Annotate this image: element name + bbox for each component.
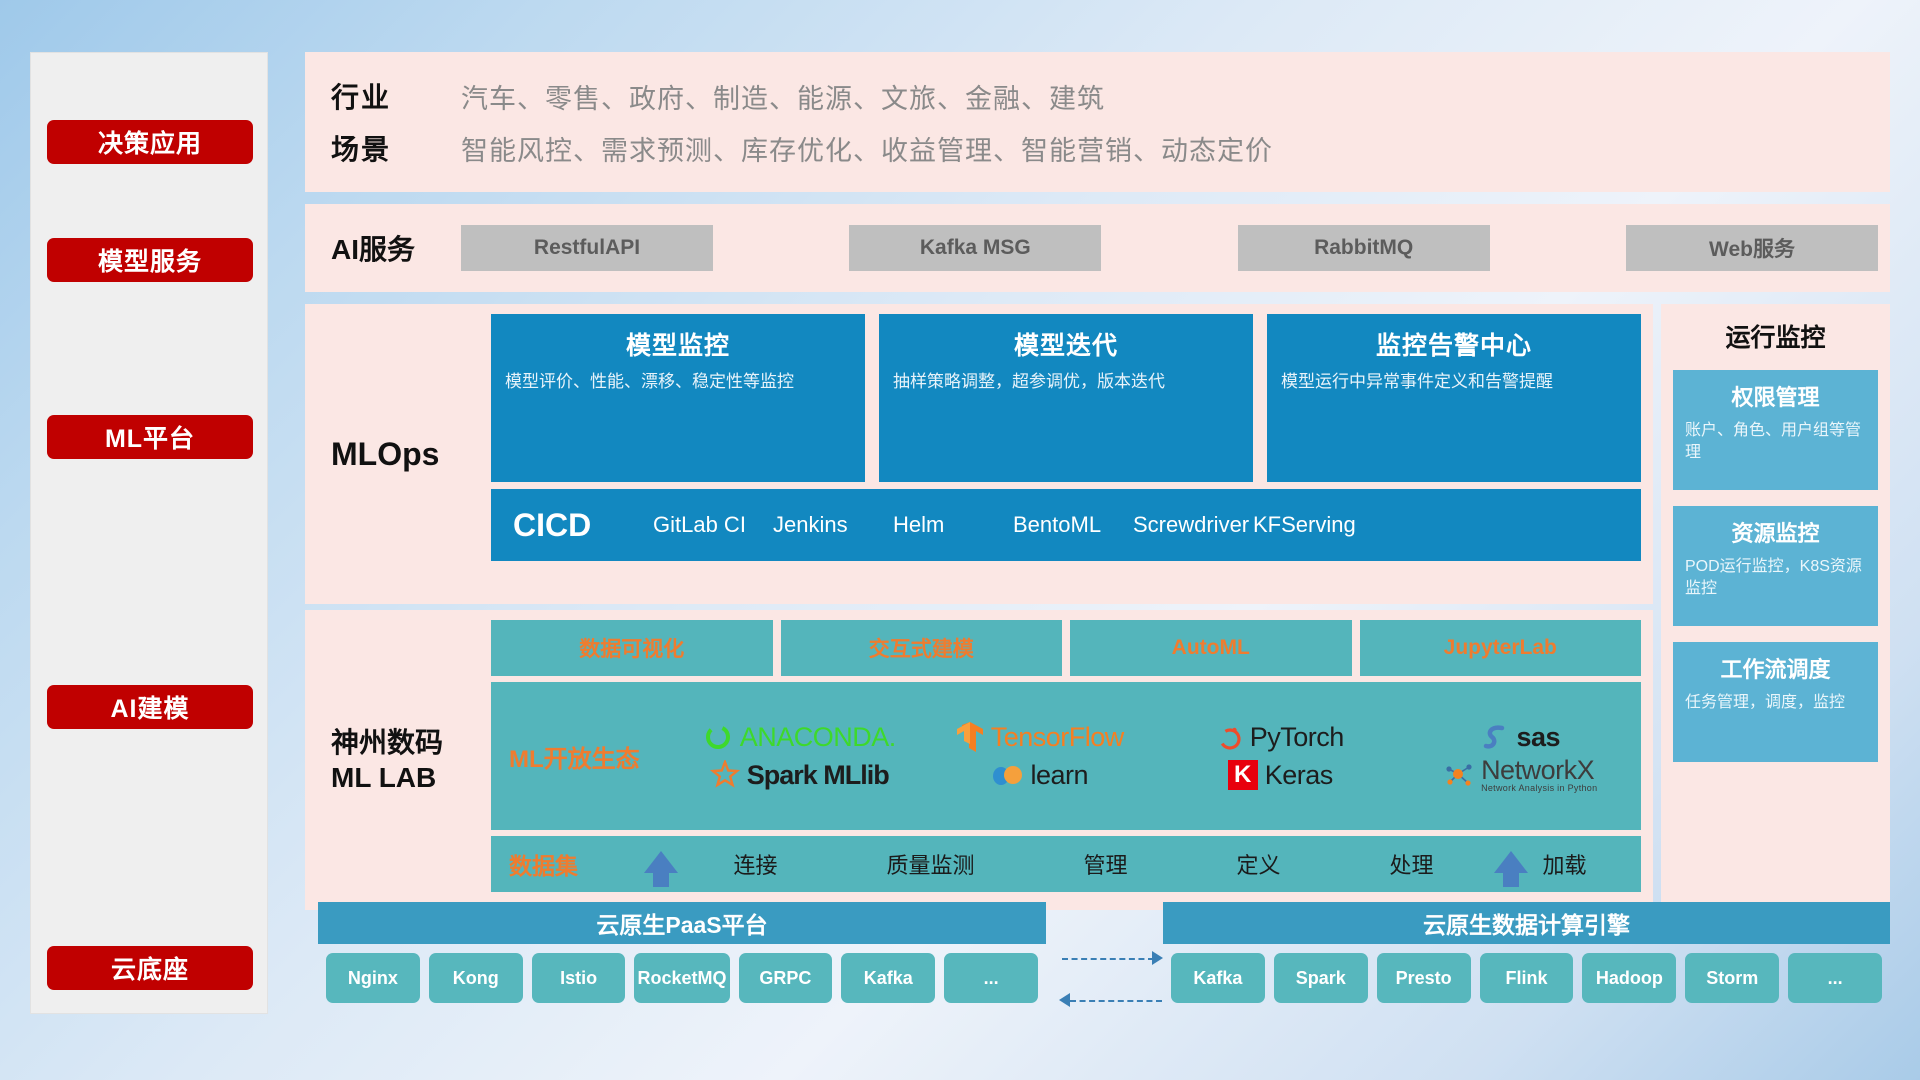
logo-label: TensorFlow bbox=[991, 722, 1124, 753]
mlops-card-alert-center[interactable]: 监控告警中心 模型运行中异常事件定义和告警提醒 bbox=[1267, 314, 1641, 482]
monitor-card-permission[interactable]: 权限管理 账户、角色、用户组等管理 bbox=[1673, 370, 1878, 490]
cicd-bar: CICD GitLab CI Jenkins Helm BentoML Scre… bbox=[491, 489, 1641, 561]
card-desc: POD运行监控，K8S资源监控 bbox=[1685, 556, 1866, 601]
networkx-text: NetworkX Network Analysis in Python bbox=[1481, 757, 1597, 793]
ai-service-chip-restfulapi[interactable]: RestfulAPI bbox=[461, 225, 713, 271]
compute-chip-spark[interactable]: Spark bbox=[1274, 953, 1368, 1003]
mlops-band: MLOps 模型监控 模型评价、性能、漂移、稳定性等监控 模型迭代 抽样策略调整… bbox=[305, 304, 1653, 604]
ml-lab-label-lines: 神州数码 ML LAB bbox=[331, 725, 443, 795]
dataset-item-processing[interactable]: 处理 bbox=[1389, 848, 1433, 880]
compute-chip-storm[interactable]: Storm bbox=[1685, 953, 1779, 1003]
rail-item-label: ML平台 bbox=[105, 419, 195, 455]
compute-engine-block: 云原生数据计算引擎 Kafka Spark Presto Flink Hadoo… bbox=[1163, 902, 1890, 1003]
rail-item-ai-modeling[interactable]: AI建模 bbox=[47, 685, 253, 729]
ml-lab-tab-interactive-modeling[interactable]: 交互式建模 bbox=[781, 620, 1063, 676]
logo-label: ANACONDA. bbox=[740, 722, 896, 753]
logo-tensorflow: TensorFlow bbox=[920, 721, 1161, 753]
decision-applications-band: 行业 汽车、零售、政府、制造、能源、文旅、金融、建筑 场景 智能风控、需求预测、… bbox=[305, 52, 1890, 192]
ml-lab-label-line2: ML LAB bbox=[331, 762, 436, 793]
paas-arrow-up-icon bbox=[644, 851, 678, 873]
card-desc: 模型运行中异常事件定义和告警提醒 bbox=[1281, 371, 1627, 394]
runtime-monitor-panel: 运行监控 权限管理 账户、角色、用户组等管理 资源监控 POD运行监控，K8S资… bbox=[1661, 304, 1890, 910]
connector-line-bottom bbox=[1070, 1000, 1162, 1002]
logo-label: Keras bbox=[1265, 760, 1333, 791]
card-title: 模型迭代 bbox=[893, 326, 1239, 362]
rail-item-label: AI建模 bbox=[110, 689, 189, 725]
rail-item-model-service[interactable]: 模型服务 bbox=[47, 238, 253, 282]
ai-service-label: AI服务 bbox=[331, 228, 461, 268]
ml-lab-label: 神州数码 ML LAB bbox=[331, 620, 491, 900]
mlops-body: 模型监控 模型评价、性能、漂移、稳定性等监控 模型迭代 抽样策略调整，超参调优，… bbox=[491, 314, 1641, 594]
rail-item-decision-apps[interactable]: 决策应用 bbox=[47, 120, 253, 164]
dataset-item-definition[interactable]: 定义 bbox=[1236, 848, 1280, 880]
logo-sas: sas bbox=[1401, 722, 1642, 753]
compute-chip-more[interactable]: ... bbox=[1788, 953, 1882, 1003]
rail-item-label: 云底座 bbox=[111, 950, 189, 986]
mlops-label: MLOps bbox=[331, 314, 491, 594]
connector-arrow-left-icon bbox=[1059, 993, 1070, 1007]
paas-chip-grpc[interactable]: GRPC bbox=[739, 953, 833, 1003]
rail-item-ml-platform[interactable]: ML平台 bbox=[47, 415, 253, 459]
tensorflow-icon bbox=[956, 721, 984, 753]
card-title: 模型监控 bbox=[505, 326, 851, 362]
paas-chip-more[interactable]: ... bbox=[944, 953, 1038, 1003]
ai-service-chip-group: RestfulAPI Kafka MSG RabbitMQ Web服务 bbox=[461, 225, 1890, 271]
paas-chip-group: Nginx Kong Istio RocketMQ GRPC Kafka ... bbox=[318, 944, 1046, 1003]
sas-icon bbox=[1481, 723, 1509, 751]
logo-networkx: NetworkX Network Analysis in Python bbox=[1401, 757, 1642, 793]
card-title: 监控告警中心 bbox=[1281, 326, 1627, 362]
dataset-item-connect[interactable]: 连接 bbox=[733, 848, 777, 880]
cicd-item-helm[interactable]: Helm bbox=[893, 514, 1013, 536]
ml-lab-label-line1: 神州数码 bbox=[331, 727, 443, 758]
pytorch-icon bbox=[1217, 722, 1243, 752]
keras-icon: K bbox=[1228, 760, 1258, 790]
cicd-item-group: GitLab CI Jenkins Helm BentoML Screwdriv… bbox=[653, 514, 1641, 536]
ml-lab-tab-automl[interactable]: AutoML bbox=[1070, 620, 1352, 676]
card-title: 工作流调度 bbox=[1685, 652, 1866, 684]
cicd-item-bentoml[interactable]: BentoML bbox=[1013, 514, 1133, 536]
card-desc: 模型评价、性能、漂移、稳定性等监控 bbox=[505, 371, 851, 394]
mlops-card-model-iteration[interactable]: 模型迭代 抽样策略调整，超参调优，版本迭代 bbox=[879, 314, 1253, 482]
anaconda-icon bbox=[703, 722, 733, 752]
mlops-card-group: 模型监控 模型评价、性能、漂移、稳定性等监控 模型迭代 抽样策略调整，超参调优，… bbox=[491, 314, 1641, 482]
cicd-item-gitlab-ci[interactable]: GitLab CI bbox=[653, 514, 773, 536]
card-desc: 任务管理，调度，监控 bbox=[1685, 692, 1866, 714]
paas-chip-istio[interactable]: Istio bbox=[532, 953, 626, 1003]
compute-engine-title: 云原生数据计算引擎 bbox=[1163, 902, 1890, 944]
networkx-icon bbox=[1444, 761, 1474, 789]
paas-chip-kafka[interactable]: Kafka bbox=[841, 953, 935, 1003]
runtime-monitor-title: 运行监控 bbox=[1673, 318, 1878, 354]
rail-item-label: 模型服务 bbox=[98, 242, 202, 278]
card-title: 权限管理 bbox=[1685, 380, 1866, 412]
compute-arrow-up-icon bbox=[1494, 851, 1528, 873]
chip-label: Kafka MSG bbox=[920, 236, 1031, 260]
cicd-item-jenkins[interactable]: Jenkins bbox=[773, 514, 893, 536]
card-desc: 抽样策略调整，超参调优，版本迭代 bbox=[893, 371, 1239, 394]
chip-label: RestfulAPI bbox=[534, 236, 640, 260]
chip-label: Web服务 bbox=[1709, 233, 1795, 263]
logo-spark-mllib: Spark MLlib bbox=[679, 760, 920, 791]
logo-sublabel: Network Analysis in Python bbox=[1481, 784, 1597, 793]
chip-label: RabbitMQ bbox=[1314, 236, 1413, 260]
ai-service-chip-kafka-msg[interactable]: Kafka MSG bbox=[849, 225, 1101, 271]
scikit-learn-icon bbox=[991, 761, 1023, 789]
scenario-label: 场景 bbox=[331, 128, 461, 168]
dataset-item-quality-monitoring[interactable]: 质量监测 bbox=[886, 848, 974, 880]
cicd-item-screwdriver[interactable]: Screwdriver bbox=[1133, 514, 1253, 536]
logo-keras: K Keras bbox=[1160, 760, 1401, 791]
compute-chip-kafka[interactable]: Kafka bbox=[1171, 953, 1265, 1003]
architecture-main: 行业 汽车、零售、政府、制造、能源、文旅、金融、建筑 场景 智能风控、需求预测、… bbox=[305, 52, 1890, 1014]
dataset-item-management[interactable]: 管理 bbox=[1083, 848, 1127, 880]
compute-chip-group: Kafka Spark Presto Flink Hadoop Storm ..… bbox=[1163, 944, 1890, 1003]
industry-list: 汽车、零售、政府、制造、能源、文旅、金融、建筑 bbox=[461, 77, 1105, 116]
ml-ecosystem-label: ML开放生态 bbox=[509, 739, 679, 774]
compute-chip-flink[interactable]: Flink bbox=[1480, 953, 1574, 1003]
connector-line-top bbox=[1062, 958, 1154, 960]
paas-chip-nginx[interactable]: Nginx bbox=[326, 953, 420, 1003]
mlops-card-model-monitoring[interactable]: 模型监控 模型评价、性能、漂移、稳定性等监控 bbox=[491, 314, 865, 482]
ai-service-chip-web-service[interactable]: Web服务 bbox=[1626, 225, 1878, 271]
industry-row: 行业 汽车、零售、政府、制造、能源、文旅、金融、建筑 bbox=[331, 70, 1890, 122]
scenario-list: 智能风控、需求预测、库存优化、收益管理、智能营销、动态定价 bbox=[461, 129, 1273, 168]
ml-lab-tab-group: 数据可视化 交互式建模 AutoML JupyterLab bbox=[491, 620, 1641, 676]
ml-ecosystem-row: ML开放生态 ANACONDA. TensorFlow bbox=[491, 682, 1641, 830]
compute-chip-hadoop[interactable]: Hadoop bbox=[1582, 953, 1676, 1003]
paas-chip-rocketmq[interactable]: RocketMQ bbox=[634, 953, 729, 1003]
ai-service-band: AI服务 RestfulAPI Kafka MSG RabbitMQ Web服务 bbox=[305, 204, 1890, 292]
rail-item-cloud-foundation[interactable]: 云底座 bbox=[47, 946, 253, 990]
ml-lab-tab-data-visualization[interactable]: 数据可视化 bbox=[491, 620, 773, 676]
logo-label: PyTorch bbox=[1250, 722, 1344, 753]
logo-label: NetworkX bbox=[1481, 757, 1597, 784]
dataset-item-loading[interactable]: 加载 bbox=[1542, 848, 1586, 880]
layer-rail: 决策应用 模型服务 ML平台 AI建模 云底座 bbox=[30, 52, 268, 1014]
spark-icon bbox=[710, 760, 740, 790]
paas-arrow-stem bbox=[653, 873, 669, 887]
ml-ecosystem-logo-grid: ANACONDA. TensorFlow bbox=[679, 719, 1641, 793]
compute-arrow-stem bbox=[1503, 873, 1519, 887]
paas-block: 云原生PaaS平台 Nginx Kong Istio RocketMQ GRPC… bbox=[318, 902, 1046, 1003]
logo-label: learn bbox=[1030, 760, 1088, 791]
industry-label: 行业 bbox=[331, 76, 461, 116]
connector-arrow-right-icon bbox=[1152, 951, 1163, 965]
paas-chip-kong[interactable]: Kong bbox=[429, 953, 523, 1003]
rail-item-label: 决策应用 bbox=[98, 124, 202, 160]
card-desc: 账户、角色、用户组等管理 bbox=[1685, 420, 1866, 465]
logo-label: sas bbox=[1516, 722, 1560, 753]
paas-title: 云原生PaaS平台 bbox=[318, 902, 1046, 944]
ml-lab-band: 神州数码 ML LAB 数据可视化 交互式建模 AutoML JupyterLa… bbox=[305, 610, 1653, 910]
monitor-card-resource[interactable]: 资源监控 POD运行监控，K8S资源监控 bbox=[1673, 506, 1878, 626]
cicd-item-kfserving[interactable]: KFServing bbox=[1253, 514, 1373, 536]
cicd-label: CICD bbox=[513, 507, 653, 544]
compute-chip-presto[interactable]: Presto bbox=[1377, 953, 1471, 1003]
ai-service-chip-rabbitmq[interactable]: RabbitMQ bbox=[1238, 225, 1490, 271]
logo-pytorch: PyTorch bbox=[1160, 722, 1401, 753]
logo-scikit-learn: learn bbox=[920, 760, 1161, 791]
logo-label: Spark MLlib bbox=[747, 760, 889, 791]
monitor-card-workflow[interactable]: 工作流调度 任务管理，调度，监控 bbox=[1673, 642, 1878, 762]
ml-lab-tab-jupyterlab[interactable]: JupyterLab bbox=[1360, 620, 1642, 676]
card-title: 资源监控 bbox=[1685, 516, 1866, 548]
logo-anaconda: ANACONDA. bbox=[679, 722, 920, 753]
scenario-row: 场景 智能风控、需求预测、库存优化、收益管理、智能营销、动态定价 bbox=[331, 122, 1890, 174]
